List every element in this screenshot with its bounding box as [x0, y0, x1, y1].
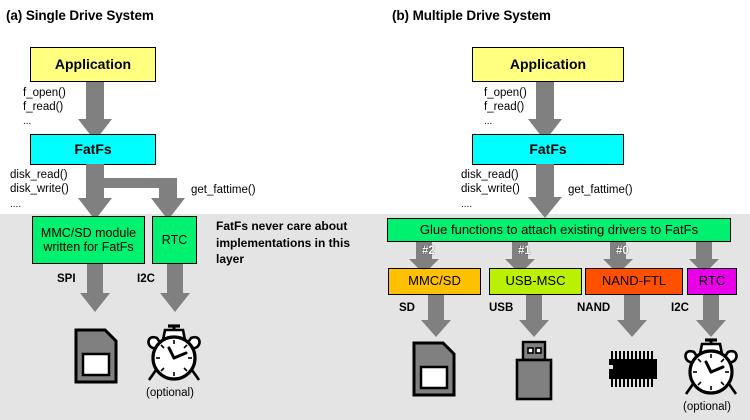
- panel-a-application-box[interactable]: Application: [30, 47, 156, 82]
- panel-b-api-more: ...: [484, 116, 492, 129]
- panel-b-fatfs-box[interactable]: FatFs: [472, 134, 624, 165]
- drive-number-0: #0: [616, 245, 629, 257]
- panel-b-api-f-open: f_open(): [484, 86, 527, 100]
- arrow-bus-nand: [617, 295, 647, 337]
- arrow-bus-usb: [519, 295, 549, 337]
- panel-a-fatfs-box[interactable]: FatFs: [30, 134, 156, 165]
- panel-b-api-f-read: f_read(): [484, 100, 524, 114]
- panel-b-api-get-fattime: get_fattime(): [568, 183, 633, 197]
- panel-b-application-box[interactable]: Application: [472, 47, 624, 82]
- nand-chip-icon: [603, 348, 663, 390]
- arrow-spi-bus: [80, 264, 110, 312]
- usb-flash-drive-icon: [513, 340, 555, 402]
- alarm-clock-icon: [143, 322, 205, 384]
- panel-a-api-get-fattime: get_fattime(): [191, 183, 256, 197]
- panel-a-api-more: ...: [23, 116, 31, 129]
- arrow-fatfs-to-glue: [528, 164, 562, 218]
- panel-a-mmcsd-module-line2: written for FatFs: [43, 240, 133, 254]
- alarm-clock-icon-b: [680, 336, 742, 398]
- panel-b-api-disk-write: disk_write(): [461, 182, 520, 196]
- sd-card-icon: [74, 328, 118, 384]
- sd-card-icon-b: [412, 341, 456, 397]
- diagram-canvas: (a) Single Drive System Application f_op…: [0, 0, 750, 420]
- drive-number-1: #1: [518, 245, 531, 257]
- arrow-app-to-fatfs-right: [528, 81, 562, 141]
- arrow-app-to-fatfs-left: [78, 81, 112, 141]
- arrow-i2c-bus: [160, 264, 190, 312]
- panel-a-mmcsd-module-line1: MMC/SD module: [41, 226, 136, 240]
- panel-b-optional-label: (optional): [683, 400, 731, 414]
- drive-number-2: #2: [422, 245, 435, 257]
- panel-a-bus-spi-label: SPI: [57, 272, 76, 286]
- driver-box-rtc[interactable]: RTC: [687, 268, 737, 295]
- panel-a-mmcsd-module-box[interactable]: MMC/SD module written for FatFs: [32, 216, 145, 264]
- glue-functions-box[interactable]: Glue functions to attach existing driver…: [387, 218, 731, 242]
- panel-a-title: (a) Single Drive System: [6, 8, 154, 23]
- panel-a-api-f-open: f_open(): [23, 86, 66, 100]
- panel-a-api-f-read: f_read(): [23, 100, 63, 114]
- bus-label-usb: USB: [489, 301, 513, 315]
- panel-b-api-disk-read: disk_read(): [461, 168, 519, 182]
- driver-box-mmcsd[interactable]: MMC/SD: [388, 268, 481, 295]
- panel-a-api-disk-write: disk_write(): [10, 182, 69, 196]
- panel-a-rtc-box[interactable]: RTC: [152, 216, 197, 264]
- arrow-fatfs-to-layer-left: [78, 164, 188, 220]
- panel-a-bus-i2c-label: I2C: [137, 272, 155, 286]
- panel-a-api-disk-read: disk_read(): [10, 168, 68, 182]
- driver-box-usbmsc[interactable]: USB-MSC: [489, 268, 582, 295]
- arrow-bus-i2c: [696, 295, 726, 337]
- arrow-bus-sd: [421, 295, 451, 337]
- bus-label-nand: NAND: [577, 301, 610, 315]
- panel-a-note: FatFs never care about implementations i…: [216, 218, 366, 268]
- panel-a-api-disk-more: ....: [10, 199, 21, 212]
- panel-b-api-disk-more: ....: [461, 199, 472, 212]
- panel-a-optional-label: (optional): [146, 386, 194, 400]
- bus-label-i2c: I2C: [671, 301, 689, 315]
- driver-box-nandftl[interactable]: NAND-FTL: [585, 268, 683, 295]
- bus-label-sd: SD: [399, 301, 415, 315]
- panel-b-title: (b) Multiple Drive System: [392, 8, 551, 23]
